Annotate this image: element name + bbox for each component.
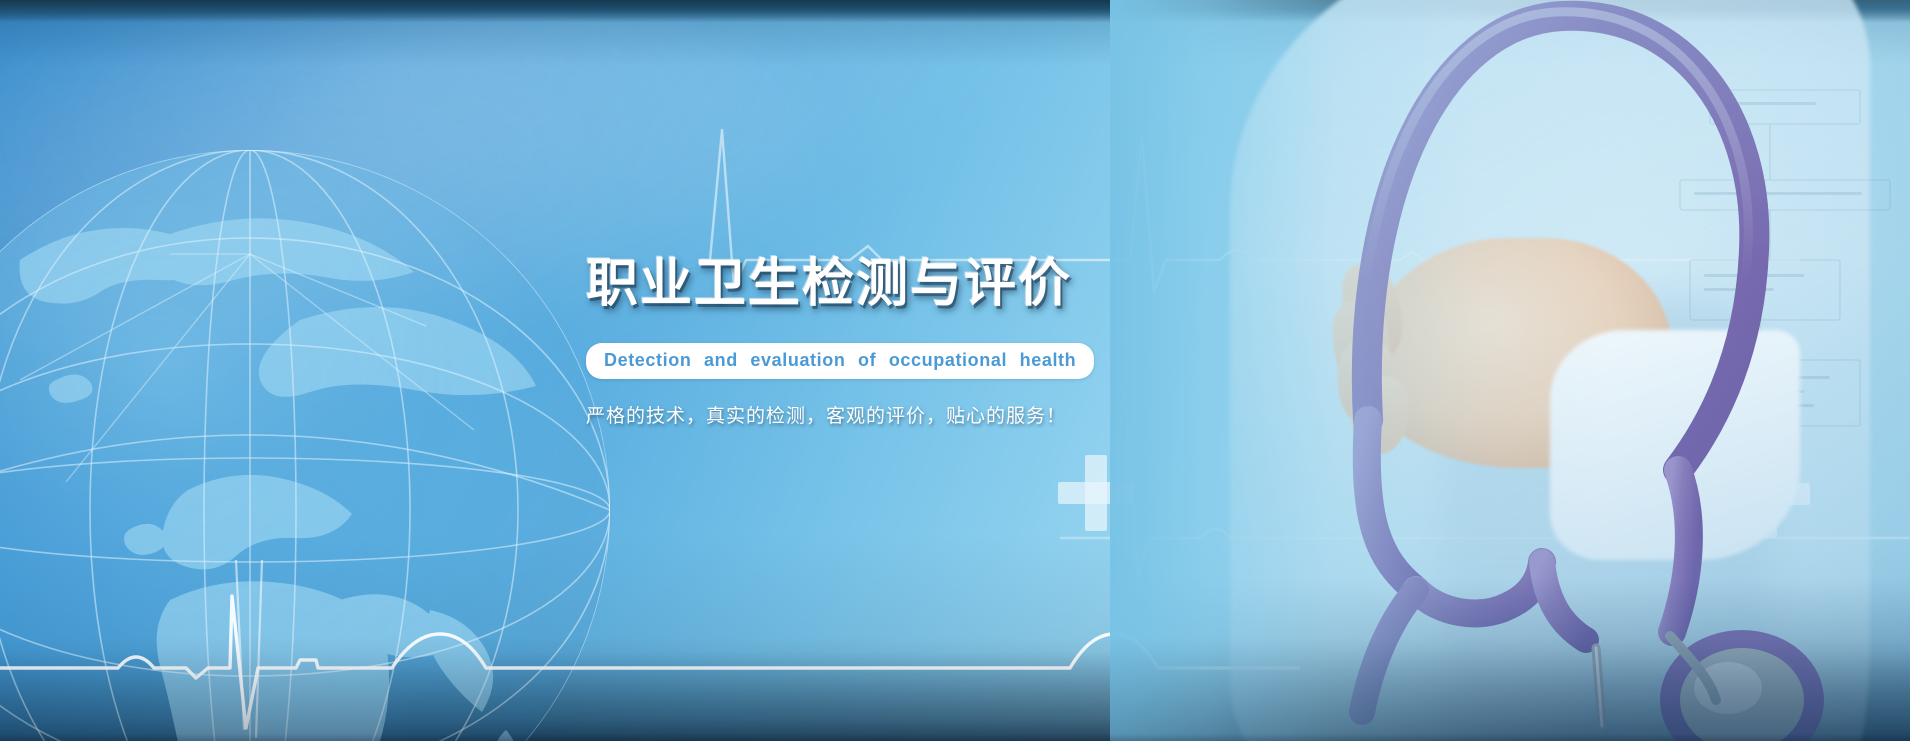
doctor-photo — [1110, 0, 1910, 741]
tagline-text: 严格的技术，真实的检测，客观的评价，贴心的服务！ — [586, 401, 1106, 428]
globe-icon — [0, 130, 630, 741]
banner-text-block: 职业卫生检测与评价 Detection and evaluation of oc… — [586, 258, 1106, 428]
photo-left-fade — [1110, 0, 1910, 741]
subtitle-text: Detection and evaluation of occupational… — [604, 350, 1076, 371]
occupational-health-banner: 职业卫生检测与评价 Detection and evaluation of oc… — [0, 0, 1910, 741]
subtitle-pill: Detection and evaluation of occupational… — [586, 343, 1094, 379]
page-title: 职业卫生检测与评价 — [586, 258, 1106, 310]
